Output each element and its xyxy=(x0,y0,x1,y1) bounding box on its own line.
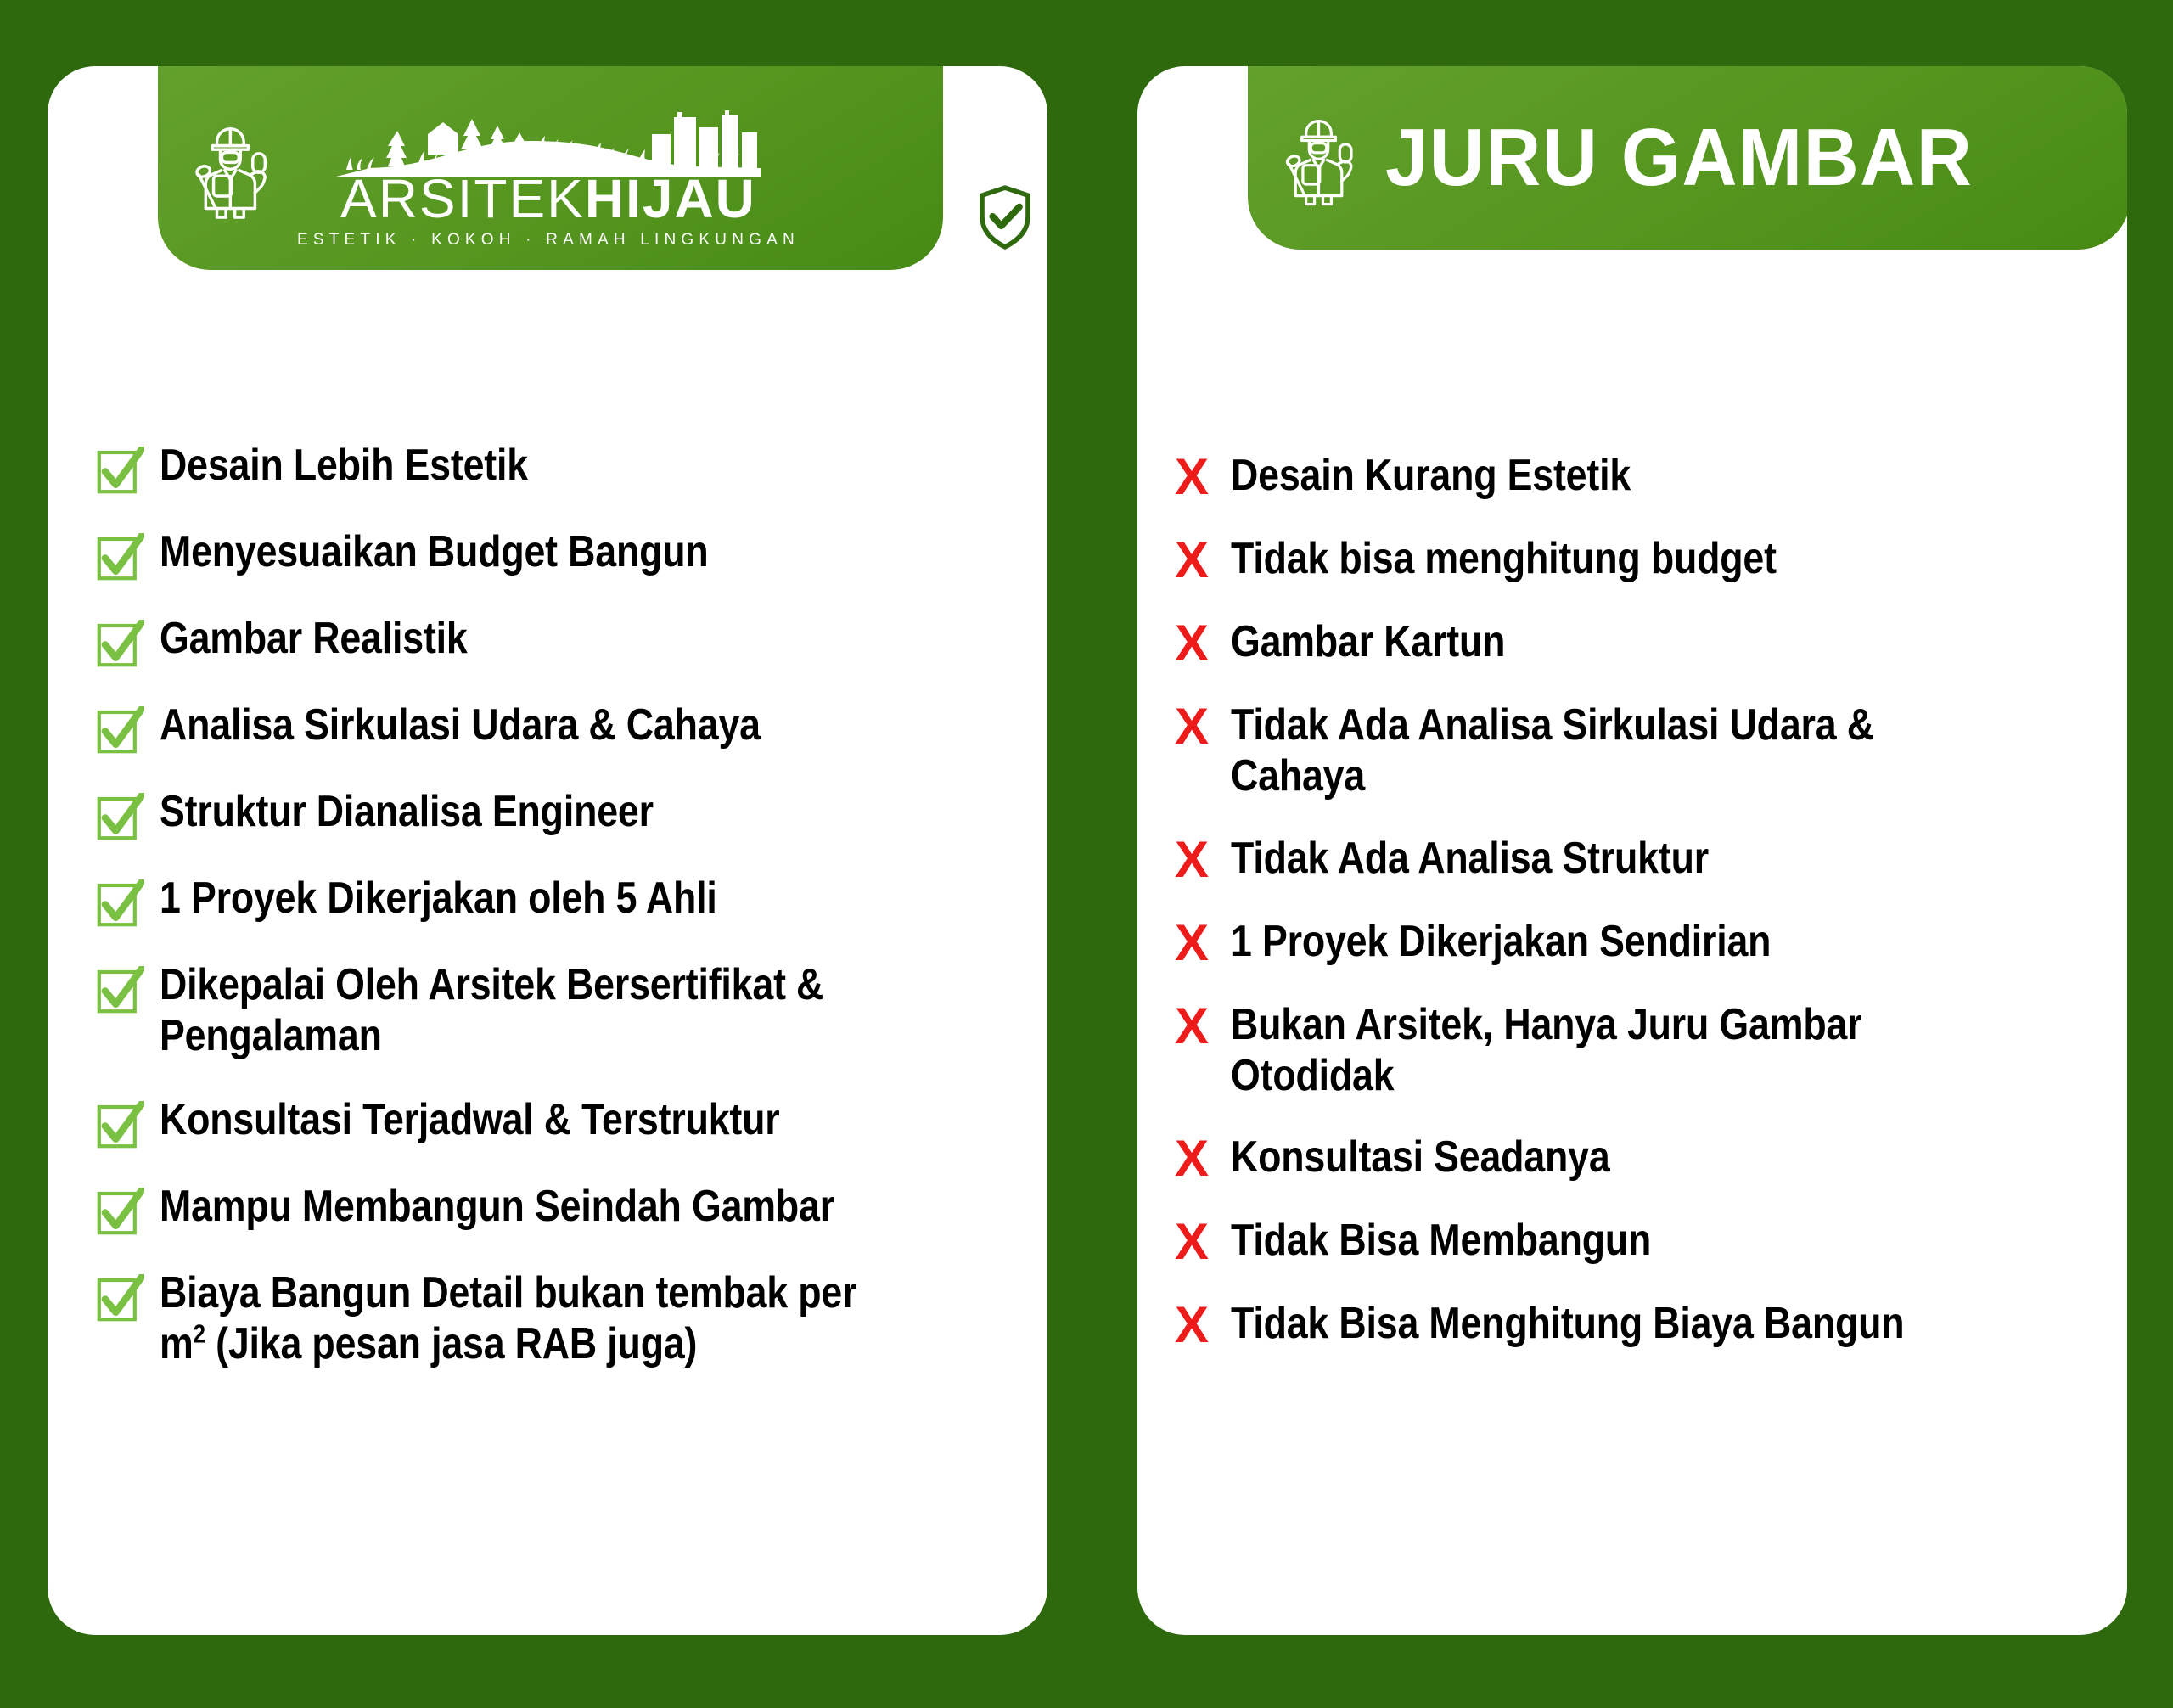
brand-logo: ARSITEKHIJAU ESTETIK · KOKOH · RAMAH LIN… xyxy=(297,110,800,250)
list-item: X Tidak Ada Analisa Sirkulasi Udara & Ca… xyxy=(1171,699,2093,802)
forest-city-skyline-icon xyxy=(336,110,761,177)
list-item: Analisa Sirkulasi Udara & Cahaya xyxy=(97,699,1014,754)
checkbox-checked-icon xyxy=(97,966,144,1014)
list-item: Konsultasi Terjadwal & Terstruktur xyxy=(97,1094,1014,1149)
cross-x-icon: X xyxy=(1171,918,1212,969)
list-item-label: Gambar Realistik xyxy=(160,613,894,664)
list-item-label: 1 Proyek Dikerjakan Sendirian xyxy=(1231,916,1973,967)
juru-gambar-header: JURU GAMBAR xyxy=(1248,66,2127,250)
list-item-label: Dikepalai Oleh Arsitek Bersertifikat & P… xyxy=(160,959,894,1062)
arsitekhijau-header: ARSITEKHIJAU ESTETIK · KOKOH · RAMAH LIN… xyxy=(158,66,943,270)
checkbox-checked-icon xyxy=(97,447,144,494)
verified-shield-check-icon xyxy=(974,183,1036,251)
list-item: Menyesuaikan Budget Bangun xyxy=(97,526,1014,581)
list-item: Biaya Bangun Detail bukan tembak per m2 … xyxy=(97,1267,1014,1370)
list-item: Mampu Membangun Seindah Gambar xyxy=(97,1181,1014,1235)
cross-x-icon: X xyxy=(1171,1001,1212,1052)
list-item-label: Tidak Bisa Menghitung Biaya Bangun xyxy=(1231,1298,1973,1349)
cross-x-icon: X xyxy=(1171,452,1212,503)
list-item: Gambar Realistik xyxy=(97,613,1014,667)
list-item: X Konsultasi Seadanya xyxy=(1171,1132,2093,1184)
drawbacks-list: X Desain Kurang Estetik X Tidak bisa men… xyxy=(1137,450,2127,1381)
cross-x-icon: X xyxy=(1171,701,1212,752)
brand-name-part2: HIJAU xyxy=(585,168,756,229)
checkbox-checked-icon xyxy=(97,1274,144,1322)
list-item: Dikepalai Oleh Arsitek Bersertifikat & P… xyxy=(97,959,1014,1062)
list-item: X Tidak bisa menghitung budget xyxy=(1171,533,2093,586)
list-item-label: Menyesuaikan Budget Bangun xyxy=(160,526,894,577)
page-title: JURU GAMBAR xyxy=(1385,111,1973,205)
list-item-label: Tidak Bisa Membangun xyxy=(1231,1215,1973,1266)
list-item: Desain Lebih Estetik xyxy=(97,440,1014,494)
cross-x-icon: X xyxy=(1171,618,1212,669)
list-item-label: Biaya Bangun Detail bukan tembak per m2 … xyxy=(160,1267,894,1370)
list-item: X Desain Kurang Estetik xyxy=(1171,450,2093,503)
checkbox-checked-icon xyxy=(97,1101,144,1149)
checkbox-checked-icon xyxy=(97,706,144,754)
brand-tagline: ESTETIK · KOKOH · RAMAH LINGKUNGAN xyxy=(297,231,800,250)
cross-x-icon: X xyxy=(1171,834,1212,885)
list-item-label: 1 Proyek Dikerjakan oleh 5 Ahli xyxy=(160,873,894,924)
cross-x-icon: X xyxy=(1171,1300,1212,1351)
checkbox-checked-icon xyxy=(97,533,144,581)
list-item-label: Gambar Kartun xyxy=(1231,616,1973,667)
list-item-label: Tidak Ada Analisa Struktur xyxy=(1231,833,1973,884)
benefits-list: Desain Lebih Estetik Menyesuaikan Budget… xyxy=(48,440,1047,1402)
list-item-label: Desain Kurang Estetik xyxy=(1231,450,1973,501)
checkbox-checked-icon xyxy=(97,620,144,667)
brand-name-part1: ARSITEK xyxy=(340,168,585,229)
list-item: 1 Proyek Dikerjakan oleh 5 Ahli xyxy=(97,873,1014,927)
list-item: X Bukan Arsitek, Hanya Juru Gambar Otodi… xyxy=(1171,999,2093,1102)
list-item: Struktur Dianalisa Engineer xyxy=(97,786,1014,840)
list-item-label: Struktur Dianalisa Engineer xyxy=(160,786,894,837)
list-item-label: Mampu Membangun Seindah Gambar xyxy=(160,1181,894,1232)
cross-x-icon: X xyxy=(1171,1133,1212,1184)
comparison-infographic: ARSITEKHIJAU ESTETIK · KOKOH · RAMAH LIN… xyxy=(0,0,2173,1708)
list-item-label: Konsultasi Seadanya xyxy=(1231,1132,1973,1183)
brand-wordmark: ARSITEKHIJAU xyxy=(340,173,756,225)
list-item-label: Konsultasi Terjadwal & Terstruktur xyxy=(160,1094,894,1145)
list-item: X Tidak Bisa Membangun xyxy=(1171,1215,2093,1267)
list-item-label: Analisa Sirkulasi Udara & Cahaya xyxy=(160,699,894,750)
list-item-label: Tidak Ada Analisa Sirkulasi Udara & Caha… xyxy=(1231,699,1973,802)
list-item: X Tidak Bisa Menghitung Biaya Bangun xyxy=(1171,1298,2093,1351)
cross-x-icon: X xyxy=(1171,1216,1212,1267)
list-item: X Gambar Kartun xyxy=(1171,616,2093,669)
list-item: X Tidak Ada Analisa Struktur xyxy=(1171,833,2093,885)
checkbox-checked-icon xyxy=(97,1188,144,1235)
checkbox-checked-icon xyxy=(97,879,144,927)
list-item-label: Tidak bisa menghitung budget xyxy=(1231,533,1973,584)
construction-worker-icon xyxy=(177,112,289,224)
checkbox-checked-icon xyxy=(97,793,144,840)
construction-worker-icon xyxy=(1268,105,1373,211)
list-item-label: Desain Lebih Estetik xyxy=(160,440,894,491)
cross-x-icon: X xyxy=(1171,535,1212,586)
juru-gambar-card: JURU GAMBAR X Desain Kurang Estetik X Ti… xyxy=(1137,66,2127,1635)
list-item: X 1 Proyek Dikerjakan Sendirian xyxy=(1171,916,2093,969)
list-item-label: Bukan Arsitek, Hanya Juru Gambar Otodida… xyxy=(1231,999,1973,1102)
arsitekhijau-card: ARSITEKHIJAU ESTETIK · KOKOH · RAMAH LIN… xyxy=(48,66,1047,1635)
